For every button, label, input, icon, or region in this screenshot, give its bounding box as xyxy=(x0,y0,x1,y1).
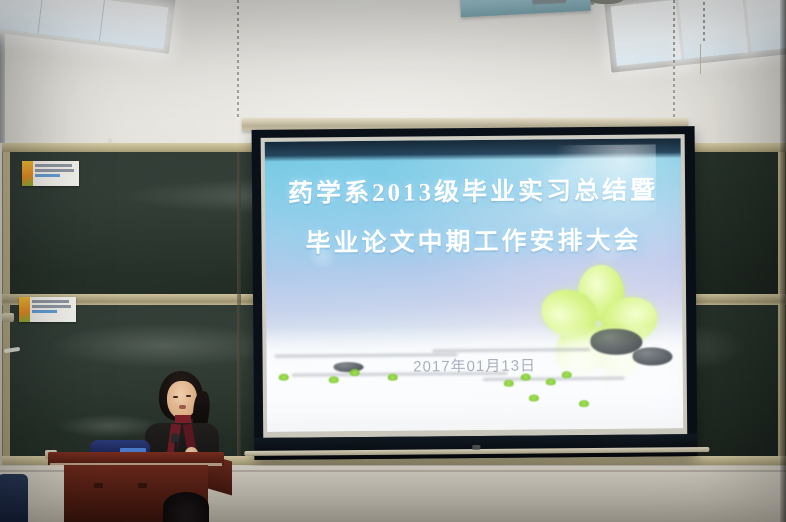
screen-bottom-bar xyxy=(254,434,697,460)
speaker-mouth xyxy=(179,405,186,409)
light-chain-right-a xyxy=(703,0,705,44)
slide-sprout xyxy=(504,380,514,387)
slide-sprout xyxy=(545,378,555,385)
screen-chain-left xyxy=(237,0,239,120)
blackboard-right-divider xyxy=(237,152,241,456)
projector-lens xyxy=(532,0,566,5)
sign-text-lines xyxy=(33,161,79,186)
audience-member-left xyxy=(0,474,28,522)
classroom-photo: 药学系2013级毕业实习总结暨 毕业论文中期工作安排大会 2017年01月13日 xyxy=(0,0,786,522)
sign-logo-mark xyxy=(19,297,30,322)
audience-member-front xyxy=(163,492,209,522)
board-notice-sign-lower xyxy=(19,297,76,322)
slide-date: 2017年01月13日 xyxy=(267,353,683,378)
screen-chain-right xyxy=(673,0,675,122)
board-clip-left xyxy=(2,313,14,322)
light-pull-cord-right xyxy=(700,44,701,74)
board-notice-sign-upper xyxy=(22,161,79,186)
slide-sprout xyxy=(529,394,539,401)
sign-logo-mark xyxy=(22,161,33,186)
screen-fabric-edge: 药学系2013级毕业实习总结暨 毕业论文中期工作安排大会 2017年01月13日 xyxy=(261,134,688,438)
sign-text-lines xyxy=(30,297,76,322)
slide-title-line-2: 毕业论文中期工作安排大会 xyxy=(265,220,681,260)
right-wall-edge xyxy=(780,0,786,522)
slide-title-line-1: 药学系2013级毕业实习总结暨 xyxy=(265,170,681,210)
slide-dark-top-band xyxy=(265,138,681,162)
projected-slide: 药学系2013级毕业实习总结暨 毕业论文中期工作安排大会 2017年01月13日 xyxy=(265,138,684,432)
slide-sprout xyxy=(579,400,589,407)
slide-snow-ground xyxy=(266,324,683,432)
pull-down-projection-screen: 药学系2013级毕业实习总结暨 毕业论文中期工作安排大会 2017年01月13日 xyxy=(252,126,698,460)
screen-rod-center-nub xyxy=(472,445,480,450)
